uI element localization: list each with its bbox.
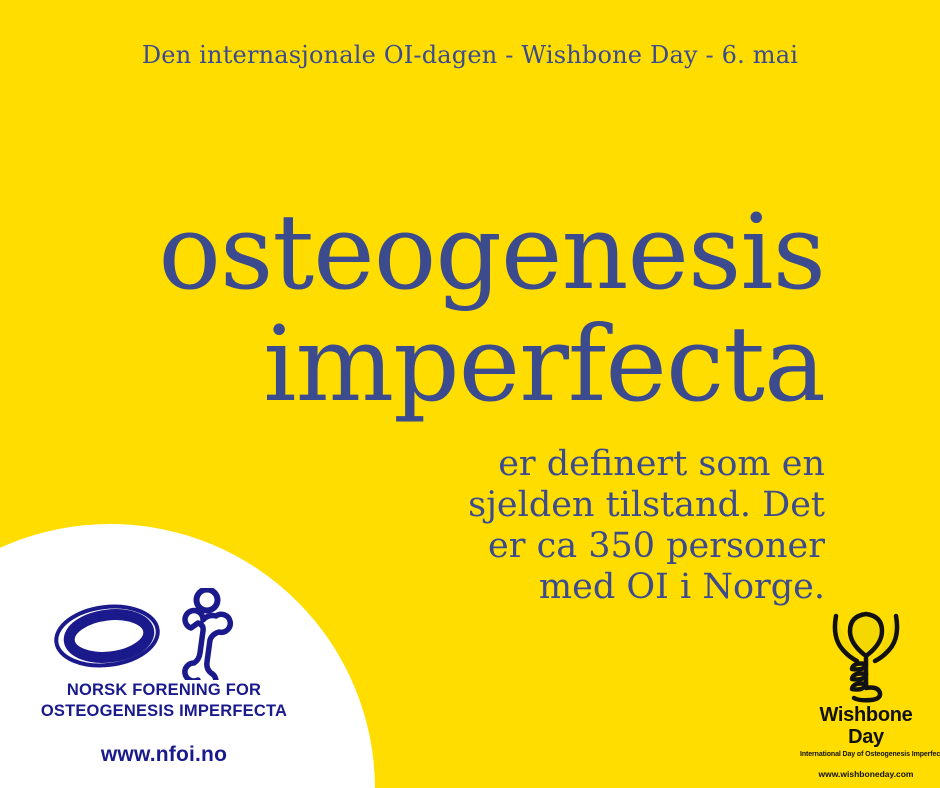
nfoi-name-line-1: NORSK FORENING FOR (14, 680, 314, 701)
body-line-1: er definert som en (330, 444, 825, 485)
body-line-4: med OI i Norge. (330, 567, 825, 608)
headline-line-2: imperfecta (60, 308, 825, 420)
wishbone-mark (800, 608, 932, 704)
body-line-2: sjelden tilstand. Det (330, 485, 825, 526)
nfoi-name-line-2: OSTEOGENESIS IMPERFECTA (14, 701, 314, 722)
page-title: osteogenesis imperfecta (60, 196, 825, 420)
nfoi-organisation-name: NORSK FORENING FOR OSTEOGENESIS IMPERFEC… (14, 680, 314, 722)
wishbone-day-subtitle: International Day of Osteogenesis Imperf… (800, 751, 932, 758)
nfoi-bone-person-icon (177, 588, 235, 680)
wishbone-day-logo: Wishbone Day International Day of Osteog… (800, 608, 932, 779)
poster-canvas: Den internasjonale OI-dagen - Wishbone D… (0, 0, 940, 788)
body-copy: er definert som en sjelden tilstand. Det… (330, 444, 825, 608)
wishbone-figure-icon (824, 608, 908, 704)
nfoi-website-url[interactable]: www.nfoi.no (14, 743, 314, 767)
nfoi-logo: NORSK FORENING FOR OSTEOGENESIS IMPERFEC… (14, 588, 314, 767)
nfoi-logo-marks (14, 588, 314, 680)
poster-tagline: Den internasjonale OI-dagen - Wishbone D… (0, 41, 940, 69)
nfoi-o-ellipse-icon (52, 602, 162, 670)
wishbone-day-url[interactable]: www.wishboneday.com (800, 769, 932, 779)
headline-line-1: osteogenesis (60, 196, 825, 308)
body-line-3: er ca 350 personer (330, 526, 825, 567)
wishbone-day-title: Wishbone Day (800, 704, 932, 748)
